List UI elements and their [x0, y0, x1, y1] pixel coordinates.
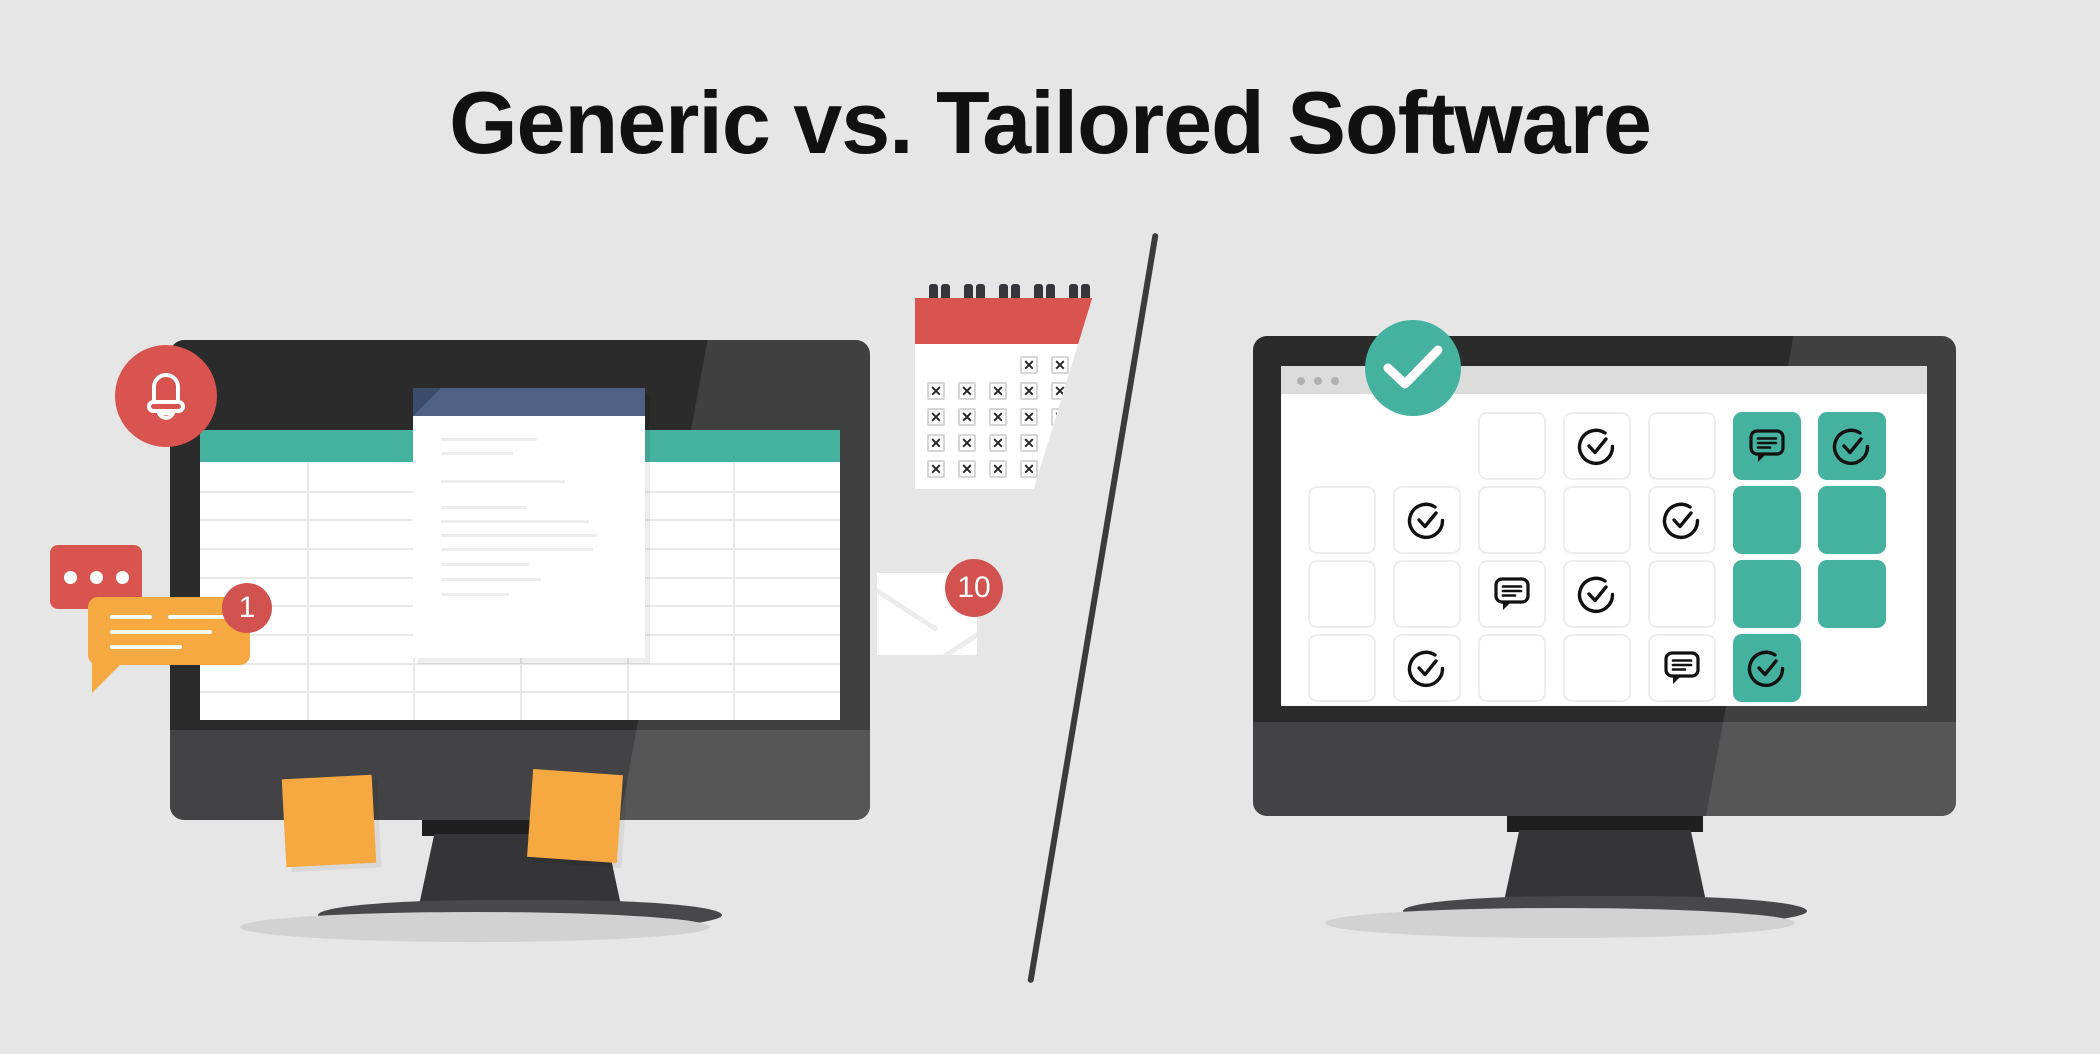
document-line: [441, 438, 537, 441]
bubble-line-2: [168, 615, 230, 619]
task-cell[interactable]: [1818, 560, 1886, 628]
task-cell[interactable]: [1478, 634, 1546, 702]
right-monitor-tailored: [1253, 336, 1956, 816]
right-monitor-screen: [1281, 366, 1927, 706]
calendar-day-cell[interactable]: ✕: [1020, 356, 1038, 374]
document-line: [441, 548, 593, 551]
calendar-day-cell[interactable]: ✕: [989, 408, 1007, 426]
task-cell[interactable]: [1563, 560, 1631, 628]
calendar-day-cell[interactable]: ✕: [1020, 460, 1038, 478]
check-circle-icon: [1577, 574, 1617, 614]
task-cell[interactable]: [1563, 412, 1631, 480]
browser-dot-3: [1331, 377, 1339, 385]
right-monitor-neck-top: [1507, 816, 1703, 832]
chat-bubble-icon: [1747, 427, 1787, 465]
left-monitor-shadow: [240, 912, 710, 942]
calendar-day-cell[interactable]: ✕: [1082, 434, 1100, 452]
task-cell[interactable]: [1563, 634, 1631, 702]
task-cell[interactable]: [1733, 486, 1801, 554]
dot-1: [64, 571, 77, 584]
calendar-ring: [1116, 284, 1125, 310]
check-circle-icon: [1407, 648, 1447, 688]
dot-2: [90, 571, 103, 584]
grid-row-line: [200, 663, 840, 665]
document-header-bar: [413, 388, 645, 416]
calendar-day-cell[interactable]: ✕: [1082, 356, 1100, 374]
calendar-day-cell[interactable]: ✕: [1020, 382, 1038, 400]
task-cell[interactable]: [1308, 486, 1376, 554]
check-circle-icon: [1577, 426, 1617, 466]
calendar-body: ✕✕✕✕✕✕✕✕✕✕✕✕✕✕✕✕✕✕✕✕✕✕✕✕✕✕: [915, 344, 1131, 489]
task-cell[interactable]: [1563, 486, 1631, 554]
calendar-day-cell[interactable]: ✕: [958, 408, 976, 426]
calendar-day-cell[interactable]: ✕: [927, 382, 945, 400]
right-monitor-chin: [1253, 722, 1956, 816]
document-corner-fold: [413, 388, 441, 416]
calendar-day-cell[interactable]: ✕: [958, 460, 976, 478]
task-cell[interactable]: [1478, 486, 1546, 554]
check-circle-icon: [1407, 500, 1447, 540]
document-line: [441, 578, 541, 581]
task-cell[interactable]: [1648, 634, 1716, 702]
calendar-widget: ✕✕✕✕✕✕✕✕✕✕✕✕✕✕✕✕✕✕✕✕✕✕✕✕✕✕: [915, 284, 1131, 489]
task-cell[interactable]: [1818, 486, 1886, 554]
check-icon: [1382, 344, 1444, 392]
document-overlay: [413, 388, 645, 658]
calendar-day-cell[interactable]: ✕: [1051, 408, 1069, 426]
envelope-count-badge: 10: [945, 559, 1003, 617]
bubble-tail: [92, 663, 122, 693]
calendar-day-cell[interactable]: ✕: [1020, 434, 1038, 452]
calendar-day-cell[interactable]: ✕: [1082, 408, 1100, 426]
task-cell[interactable]: [1308, 634, 1376, 702]
calendar-day-cell[interactable]: ✕: [1051, 434, 1069, 452]
task-cell[interactable]: [1733, 634, 1801, 702]
bell-icon: [142, 369, 190, 423]
task-cell[interactable]: [1308, 560, 1376, 628]
calendar-day-cell[interactable]: ✕: [927, 434, 945, 452]
calendar-ring: [1104, 284, 1113, 310]
check-circle-icon: [1662, 500, 1702, 540]
task-cell[interactable]: [1648, 412, 1716, 480]
browser-dot-2: [1314, 377, 1322, 385]
calendar-day-cell[interactable]: ✕: [1051, 460, 1069, 478]
calendar-day-cell[interactable]: ✕: [989, 460, 1007, 478]
task-cell[interactable]: [1393, 560, 1461, 628]
sticky-note-right[interactable]: [527, 769, 623, 863]
task-board-grid: [1281, 394, 1927, 706]
calendar-header: [915, 298, 1131, 344]
sticky-note-left[interactable]: [282, 775, 376, 868]
calendar-day-cell[interactable]: ✕: [958, 434, 976, 452]
task-cell[interactable]: [1733, 412, 1801, 480]
task-cell[interactable]: [1393, 634, 1461, 702]
document-line: [441, 534, 597, 537]
task-cell[interactable]: [1478, 560, 1546, 628]
success-check-badge: [1365, 320, 1461, 416]
chat-bubble-icon: [1662, 649, 1702, 687]
bell-notification-badge[interactable]: [115, 345, 217, 447]
calendar-day-cell[interactable]: ✕: [958, 382, 976, 400]
calendar-day-cell[interactable]: ✕: [1051, 356, 1069, 374]
task-cell[interactable]: [1648, 486, 1716, 554]
task-cell[interactable]: [1818, 412, 1886, 480]
browser-dot-1: [1297, 377, 1305, 385]
calendar-day-cell[interactable]: ✕: [1020, 408, 1038, 426]
check-circle-icon: [1832, 426, 1872, 466]
illustration-stage: 1 ✕✕✕✕✕✕✕✕✕✕✕✕✕✕✕✕✕✕✕✕✕✕✕✕✕✕ 10: [0, 0, 2100, 1054]
document-line: [441, 563, 529, 566]
document-line: [441, 480, 565, 483]
grid-column-line: [733, 462, 735, 720]
grid-row-line: [200, 691, 840, 693]
dot-3: [116, 571, 129, 584]
task-cell[interactable]: [1648, 560, 1716, 628]
document-line: [441, 452, 513, 455]
right-monitor-neck: [1503, 830, 1707, 906]
document-line: [441, 506, 527, 509]
calendar-day-cell[interactable]: ✕: [989, 434, 1007, 452]
calendar-day-cell[interactable]: ✕: [989, 382, 1007, 400]
document-line: [441, 520, 589, 523]
check-circle-icon: [1747, 648, 1787, 688]
message-count-badge: 1: [222, 583, 272, 633]
left-monitor-chin: [170, 730, 870, 820]
task-cell[interactable]: [1393, 486, 1461, 554]
document-line: [441, 593, 509, 596]
chat-bubble-icon: [1492, 575, 1532, 613]
calendar-day-cell[interactable]: ✕: [927, 408, 945, 426]
bubble-line-4: [110, 645, 182, 649]
bubble-line-1: [110, 615, 152, 619]
calendar-day-cell[interactable]: ✕: [1051, 382, 1069, 400]
right-monitor-shadow: [1325, 908, 1795, 938]
bubble-line-3: [110, 630, 212, 634]
calendar-day-cell[interactable]: ✕: [927, 460, 945, 478]
grid-column-line: [307, 462, 309, 720]
task-cell[interactable]: [1733, 560, 1801, 628]
calendar-day-cell[interactable]: ✕: [1082, 382, 1100, 400]
task-cell[interactable]: [1478, 412, 1546, 480]
